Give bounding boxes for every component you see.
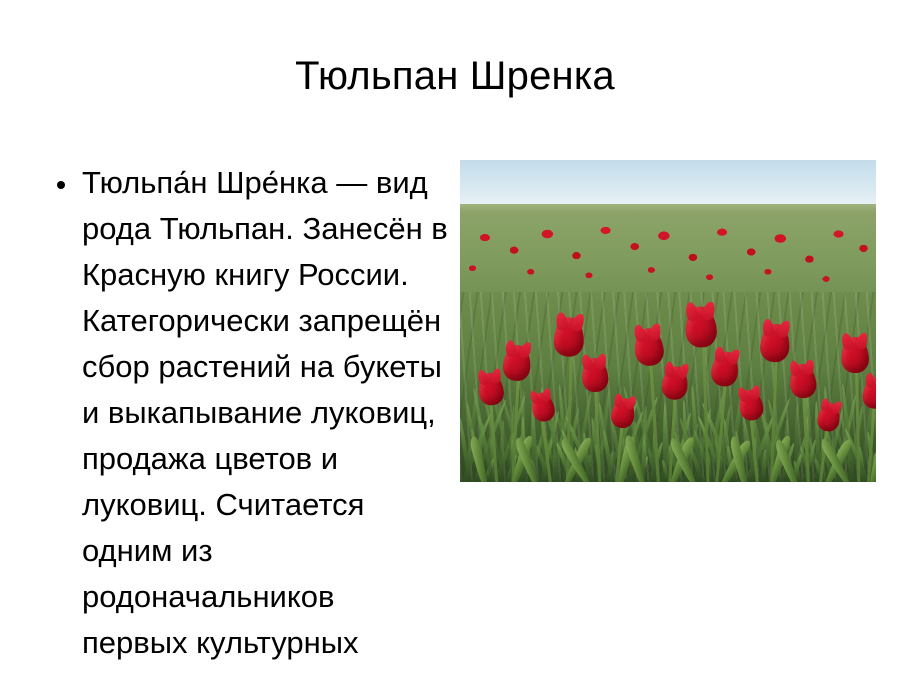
tulip-flower bbox=[553, 317, 585, 358]
tulip-flower bbox=[581, 357, 609, 393]
tulip-flower bbox=[684, 306, 717, 348]
photo-inner bbox=[460, 160, 876, 482]
list-item: Тюльпа́н Шре́нка — вид рода Тюльпан. Зан… bbox=[44, 160, 448, 666]
presentation-slide: Тюльпан Шренка Тюльпа́н Шре́нка — вид ро… bbox=[0, 0, 910, 683]
page-title: Тюльпан Шренка bbox=[0, 52, 910, 100]
tulip-field-photo bbox=[460, 160, 876, 482]
body-text-column: Тюльпа́н Шре́нка — вид рода Тюльпан. Зан… bbox=[44, 160, 448, 683]
tulip-flower bbox=[789, 363, 818, 399]
tulip-flower bbox=[633, 327, 665, 367]
bullet-dot-icon bbox=[57, 181, 65, 189]
bullet-list: Тюльпа́н Шре́нка — вид рода Тюльпан. Зан… bbox=[44, 160, 448, 666]
photo-sky bbox=[460, 160, 876, 206]
list-item-text: Тюльпа́н Шре́нка — вид рода Тюльпан. Зан… bbox=[82, 165, 448, 660]
tulip-flower bbox=[841, 337, 870, 374]
